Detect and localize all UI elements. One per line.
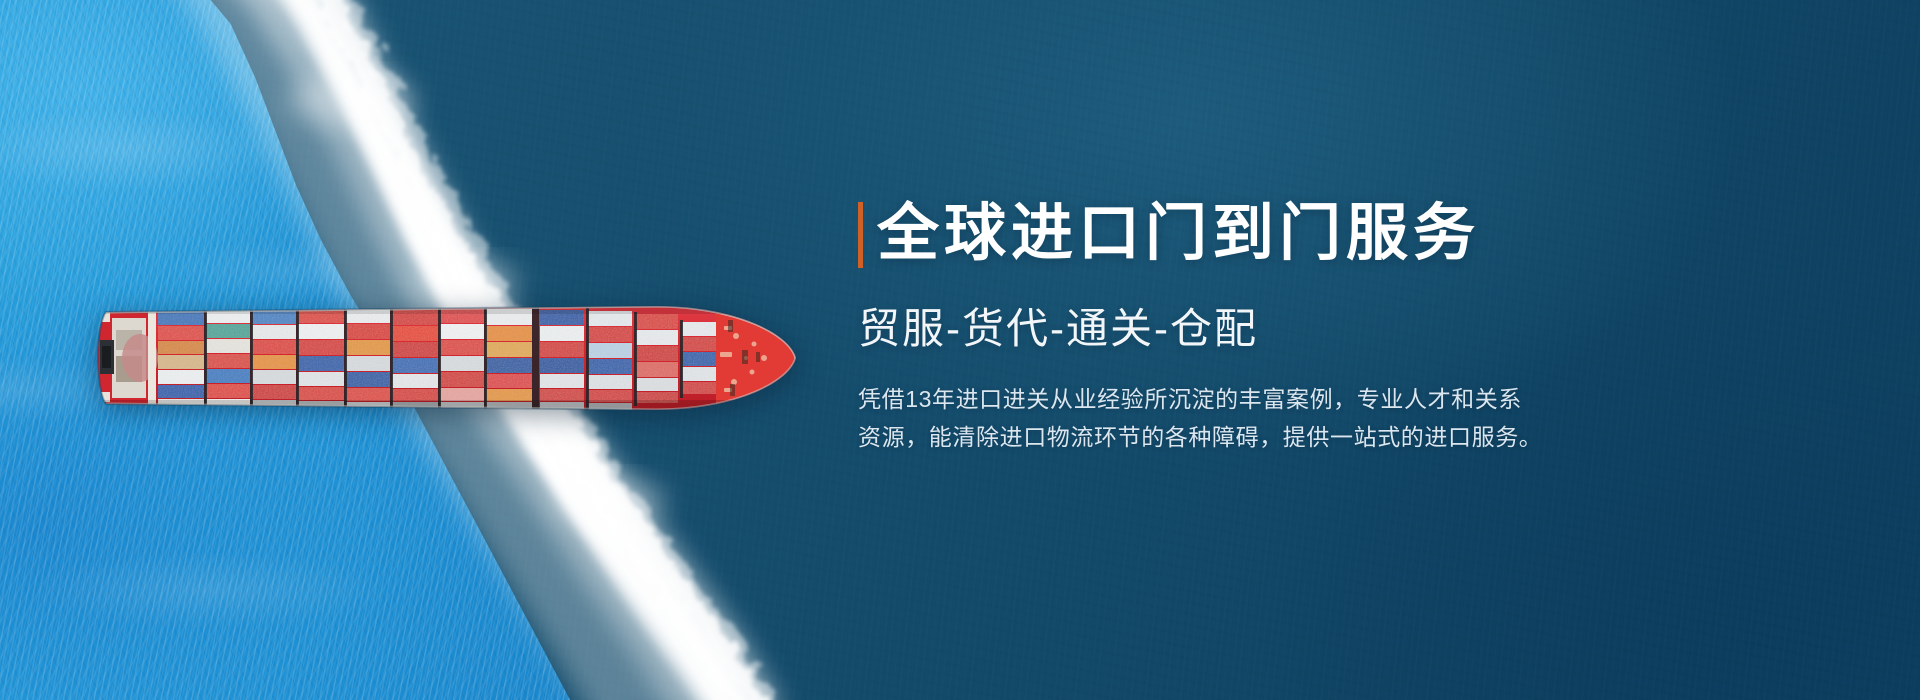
description-line-1: 凭借13年进口进关从业经验所沉淀的丰富案例，专业人才和关系: [858, 380, 1758, 418]
container-ship-image: [96, 296, 802, 420]
page-title: 全球进口门到门服务: [863, 196, 1480, 272]
banner-text-block: 全球进口门到门服务 贸服-货代-通关-仓配 凭借13年进口进关从业经验所沉淀的丰…: [858, 196, 1838, 456]
subtitle: 贸服-货代-通关-仓配: [858, 304, 1838, 354]
hero-banner: 全球进口门到门服务 贸服-货代-通关-仓配 凭借13年进口进关从业经验所沉淀的丰…: [0, 0, 1920, 700]
description-line-2: 资源，能清除进口物流环节的各种障碍，提供一站式的进口服务。: [858, 418, 1758, 456]
headline-row: 全球进口门到门服务: [858, 196, 1838, 272]
description-paragraph: 凭借13年进口进关从业经验所沉淀的丰富案例，专业人才和关系 资源，能清除进口物流…: [858, 380, 1758, 456]
